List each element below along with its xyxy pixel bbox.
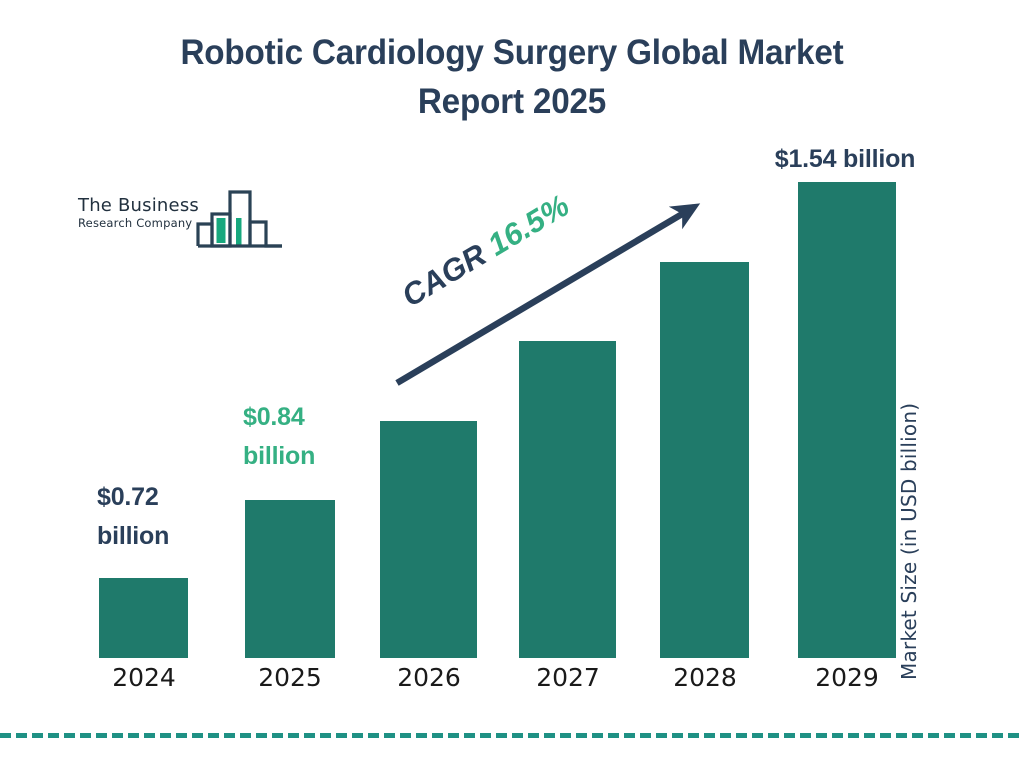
bar-chart-plot: 2024 2025 2026 2027 2028 2029	[0, 0, 1024, 768]
y-axis-title-text: Market Size (in USD billion)	[897, 300, 921, 680]
xtick-2029: 2029	[787, 663, 907, 693]
value-label-2024: $0.72 billion	[97, 478, 257, 556]
bar-2024	[99, 578, 188, 658]
value-label-2029: $1.54 billion	[700, 140, 990, 179]
xtick-2028: 2028	[645, 663, 765, 693]
bottom-divider	[0, 733, 1024, 738]
value-label-2025: $0.84 billion	[243, 398, 403, 476]
bar-2028	[660, 262, 749, 658]
xtick-2027: 2027	[508, 663, 628, 693]
chart-page: Robotic Cardiology Surgery Global Market…	[0, 0, 1024, 768]
xtick-2025: 2025	[230, 663, 350, 693]
y-axis-title: Market Size (in USD billion)	[897, 0, 921, 300]
bar-2025	[245, 500, 335, 658]
bar-2029	[798, 182, 896, 658]
bar-2027	[519, 341, 616, 658]
xtick-2026: 2026	[369, 663, 489, 693]
xtick-2024: 2024	[84, 663, 204, 693]
